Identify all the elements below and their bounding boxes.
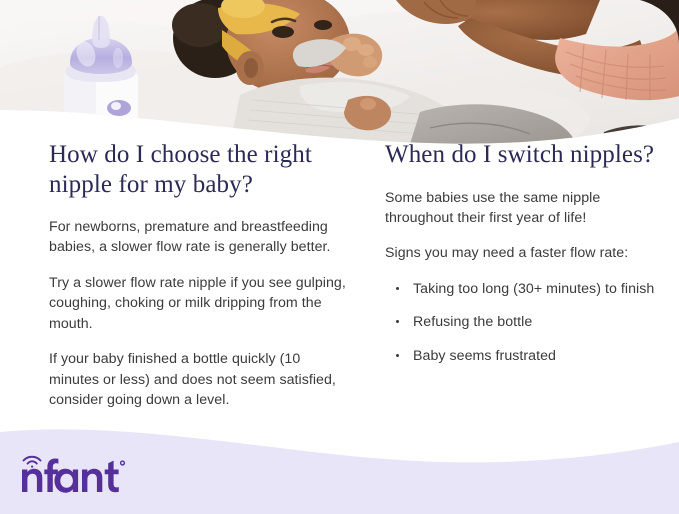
bullet-dot-icon xyxy=(396,320,399,323)
nfant-logo-wordmark xyxy=(20,451,170,495)
paragraph-same-nipple-first-year: Some babies use the same nipple througho… xyxy=(385,188,670,229)
paragraph-slower-flow-signs: Try a slower flow rate nipple if you see… xyxy=(49,273,349,334)
column-right: When do I switch nipples? Some babies us… xyxy=(385,140,670,366)
paragraph-signs-faster-flow: Signs you may need a faster flow rate: xyxy=(385,243,670,263)
list-item-label: Baby seems frustrated xyxy=(413,348,556,364)
list-item: Baby seems frustrated xyxy=(385,346,670,366)
heading-choose-nipple: How do I choose the right nipple for my … xyxy=(49,140,349,199)
hero-photo-illustration xyxy=(0,0,679,150)
list-item-label: Refusing the bottle xyxy=(413,314,532,330)
list-item: Refusing the bottle xyxy=(385,312,670,332)
paragraph-newborn-flow-rate: For newborns, premature and breastfeedin… xyxy=(49,217,349,258)
bullet-dot-icon xyxy=(396,354,399,357)
infographic-page: How do I choose the right nipple for my … xyxy=(0,0,679,514)
list-item-label: Taking too long (30+ minutes) to finish xyxy=(413,281,654,297)
content-area: How do I choose the right nipple for my … xyxy=(0,140,679,440)
column-left: How do I choose the right nipple for my … xyxy=(49,140,349,411)
paragraph-finished-quickly: If your baby finished a bottle quickly (… xyxy=(49,349,349,410)
hero-photo xyxy=(0,0,679,150)
heading-switch-nipples: When do I switch nipples? xyxy=(385,140,670,170)
bullet-list-faster-flow-signs: Taking too long (30+ minutes) to finish … xyxy=(385,279,670,366)
list-item: Taking too long (30+ minutes) to finish xyxy=(385,279,670,299)
footer-band xyxy=(0,420,679,514)
bullet-dot-icon xyxy=(396,287,399,290)
nfant-logo[interactable] xyxy=(20,451,170,495)
registered-trademark-icon xyxy=(120,460,125,465)
wifi-arc-icon xyxy=(24,457,41,468)
